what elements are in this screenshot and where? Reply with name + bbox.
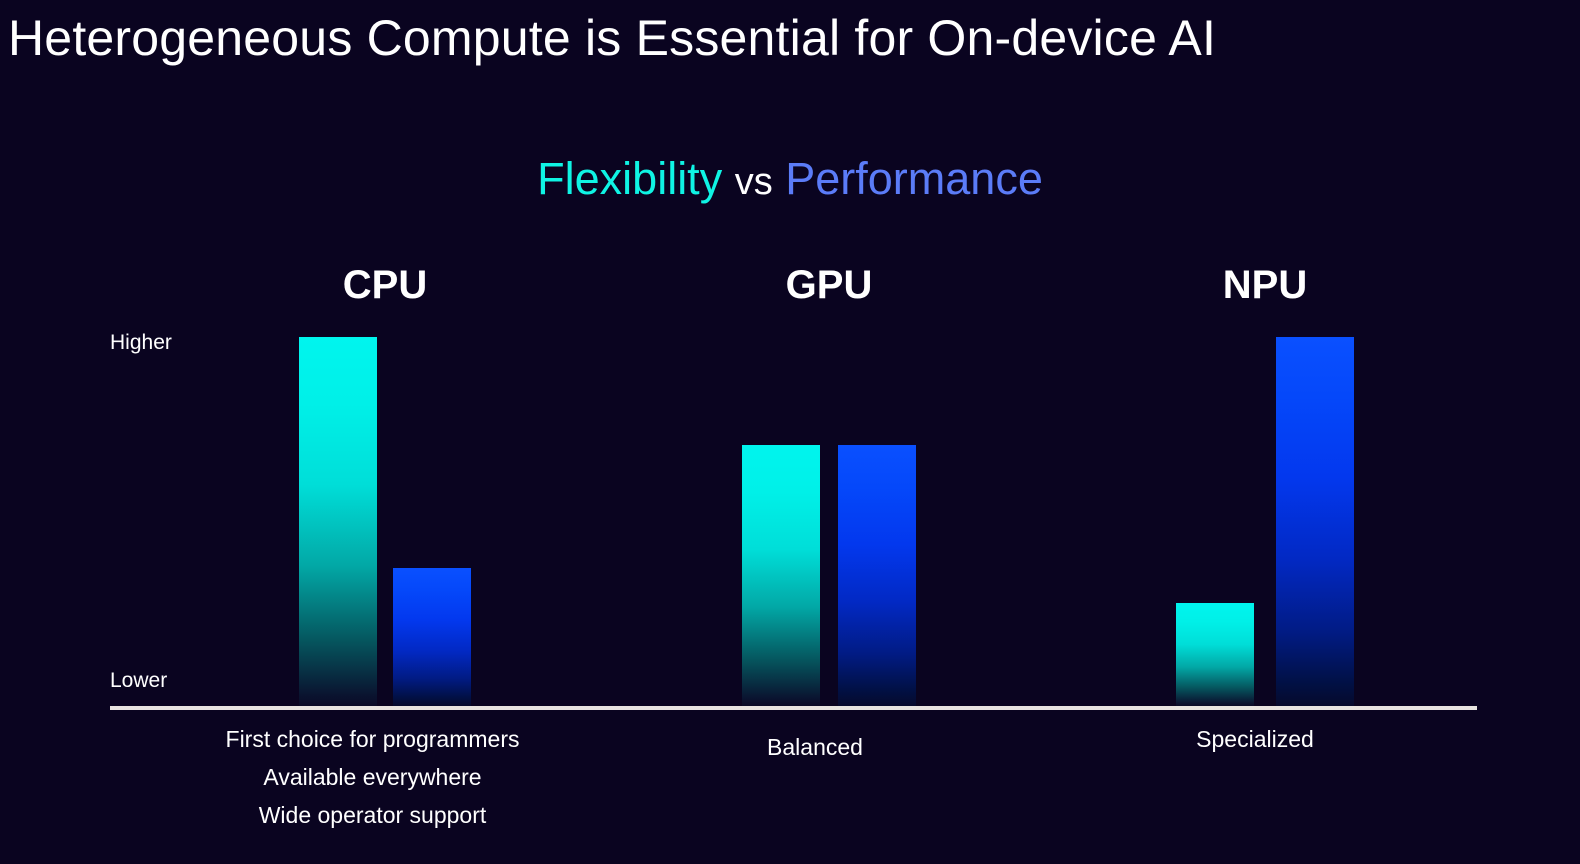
- bar-npu-performance: [1276, 337, 1354, 706]
- caption-cpu-1: First choice for programmers: [165, 720, 580, 758]
- axis-label-higher: Higher: [110, 331, 172, 355]
- caption-cpu-3: Wide operator support: [165, 796, 580, 834]
- column-header-npu: NPU: [1155, 262, 1375, 308]
- axis-baseline: [110, 706, 1477, 710]
- bar-cpu-performance: [393, 568, 471, 706]
- slide-root: Heterogeneous Compute is Essential for O…: [0, 0, 1580, 864]
- caption-gpu-1: Balanced: [660, 728, 970, 766]
- axis-label-lower: Lower: [110, 669, 167, 693]
- column-header-gpu: GPU: [719, 262, 939, 308]
- caption-cpu-2: Available everywhere: [165, 758, 580, 796]
- bar-gpu-flexibility: [742, 445, 820, 706]
- bar-chart: CPU GPU NPU Higher Lower First choice fo…: [0, 0, 1580, 864]
- caption-npu-1: Specialized: [1110, 720, 1400, 758]
- bar-cpu-flexibility: [299, 337, 377, 706]
- bar-npu-flexibility: [1176, 603, 1254, 706]
- bar-gpu-performance: [838, 445, 916, 706]
- column-header-cpu: CPU: [275, 262, 495, 308]
